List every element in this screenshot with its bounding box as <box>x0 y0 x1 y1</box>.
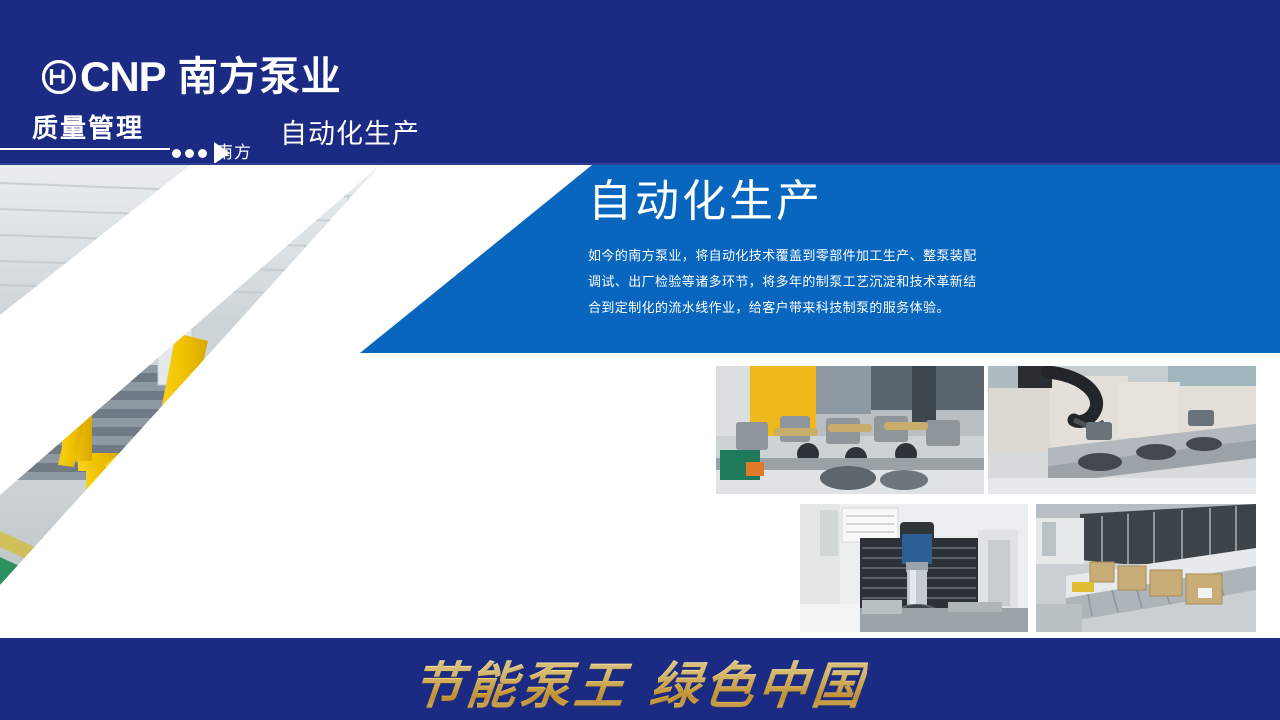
panel-title: 自动化生产 <box>588 177 823 227</box>
nav-dot-2 <box>185 149 194 158</box>
presentation-slide: CNP 南方泵业 质量管理 南方 自动化生产 <box>0 0 1280 720</box>
nav-primary-label[interactable]: 质量管理 <box>32 108 144 145</box>
slide-footer <box>0 638 1280 720</box>
panel-body-line-3: 合到定制化的流水线作业，给客户带来科技制泵的服务体验。 <box>588 295 1008 321</box>
slide-nav-row: 质量管理 南方 自动化生产 <box>0 108 1280 160</box>
nav-sub-label: 南方 <box>216 138 252 163</box>
cnp-circle-logo-icon <box>42 60 76 94</box>
nav-dot-3 <box>198 149 207 158</box>
nav-rule-divider <box>0 148 170 150</box>
robot-arm-conveyor-photo <box>988 366 1256 494</box>
vertical-pump-machining-photo <box>800 504 1028 632</box>
packaging-conveyor-photo <box>1036 504 1256 632</box>
logo-latin-text: CNP <box>80 56 166 98</box>
nav-dot-1 <box>172 149 181 158</box>
panel-body-text: 如今的南方泵业，将自动化技术覆盖到零部件加工生产、整泵装配 调试、出厂检验等诸多… <box>588 243 1008 321</box>
logo-chinese-text: 南方泵业 <box>178 56 342 98</box>
panel-body-line-2: 调试、出厂检验等诸多环节，将多年的制泵工艺沉淀和技术革新结 <box>588 269 1008 295</box>
company-logo: CNP 南方泵业 <box>42 52 342 102</box>
panel-body-line-1: 如今的南方泵业，将自动化技术覆盖到零部件加工生产、整泵装配 <box>588 243 1008 269</box>
description-panel: 自动化生产 如今的南方泵业，将自动化技术覆盖到零部件加工生产、整泵装配 调试、出… <box>360 165 1280 353</box>
assembly-line-photo <box>716 366 984 494</box>
nav-section-title: 自动化生产 <box>280 112 420 151</box>
slide-header: CNP 南方泵业 质量管理 南方 自动化生产 <box>0 0 1280 165</box>
